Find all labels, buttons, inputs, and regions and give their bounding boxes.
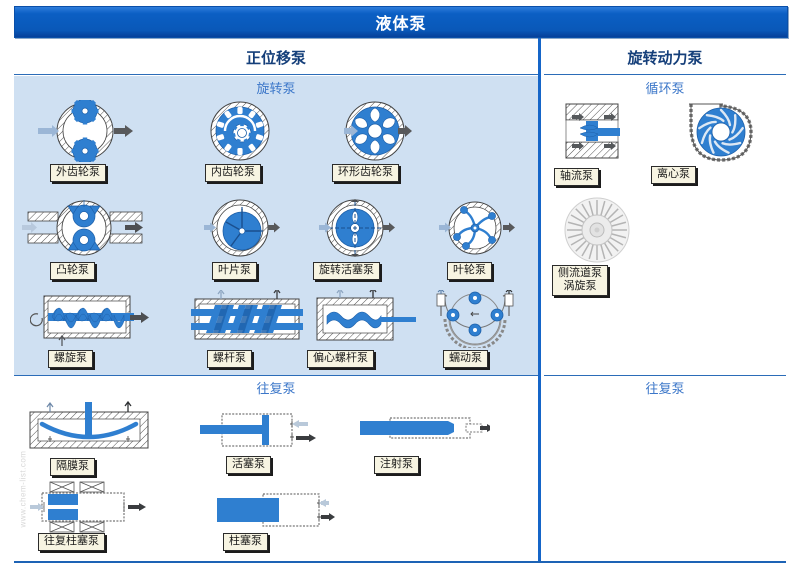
column-header-rotodynamic: 旋转动力泵 bbox=[544, 42, 786, 72]
section-header-circulation: 循环泵 bbox=[544, 78, 786, 96]
pump-cell-rotary-piston-pump: 旋转活塞泵 bbox=[305, 198, 405, 278]
pump-cell-cam-pump: 凸轮泵 bbox=[22, 198, 147, 278]
syringe-pump-icon bbox=[360, 408, 490, 454]
column-header-right-label: 旋转动力泵 bbox=[627, 47, 702, 68]
pump-cell-axial-flow-pump: 轴流泵 bbox=[560, 100, 640, 180]
pump-label-reciprocating-plunger-pump: 往复柱塞泵 bbox=[38, 533, 105, 551]
pump-label-plunger-pump: 柱塞泵 bbox=[223, 533, 268, 551]
pump-cell-syringe-pump: 注射泵 bbox=[360, 408, 490, 468]
watermark: www.chem-list.com bbox=[19, 438, 28, 528]
external-gear-pump-icon bbox=[30, 100, 140, 162]
pump-cell-reciprocating-plunger-pump: 往复柱塞泵 bbox=[28, 478, 158, 548]
pump-cell-external-gear-pump: 外齿轮泵 bbox=[30, 100, 140, 180]
ring-gear-pump-icon bbox=[320, 100, 430, 162]
piston-pump-icon bbox=[200, 408, 320, 454]
diaphragm-pump-icon bbox=[20, 398, 155, 456]
pump-label-eccentric-screw-pump: 偏心螺杆泵 bbox=[307, 350, 374, 368]
pump-label-vane-pump: 叶片泵 bbox=[212, 262, 257, 280]
pump-label-centrifugal-pump: 离心泵 bbox=[651, 166, 696, 184]
diagram-root: 液体泵 正位移泵 旋转动力泵 旋转泵 往复泵 循环泵 往复泵 bbox=[0, 0, 800, 569]
main-title-bar: 液体泵 bbox=[14, 6, 788, 38]
screw-spiral-pump-icon bbox=[30, 290, 155, 348]
pump-label-screw-pump: 螺杆泵 bbox=[207, 350, 252, 368]
plunger-pump-icon bbox=[215, 488, 335, 536]
page-title: 液体泵 bbox=[375, 10, 426, 34]
rotary-piston-pump-icon bbox=[305, 198, 405, 258]
pump-cell-side-channel-vortex-pump: 侧流道泵 涡旋泵 bbox=[552, 195, 642, 295]
divider-recip-left bbox=[14, 375, 538, 376]
peristaltic-pump-icon bbox=[425, 290, 525, 348]
divider-below-colheaders bbox=[14, 74, 538, 75]
centrifugal-pump-icon bbox=[655, 98, 765, 166]
pump-label-external-gear-pump: 外齿轮泵 bbox=[50, 164, 106, 182]
pump-label-internal-gear-pump: 内齿轮泵 bbox=[205, 164, 261, 182]
eccentric-screw-pump-icon bbox=[305, 290, 420, 348]
pump-label-screw-spiral-pump: 螺旋泵 bbox=[48, 350, 93, 368]
vane-pump-icon bbox=[190, 198, 290, 258]
section-header-recip-left-label: 往复泵 bbox=[256, 378, 295, 397]
internal-gear-pump-icon bbox=[185, 100, 295, 162]
divider-recip-right bbox=[544, 375, 786, 376]
pump-cell-impeller-pump: 叶轮泵 bbox=[425, 198, 525, 278]
impeller-pump-icon bbox=[425, 198, 525, 258]
column-header-positive-displacement: 正位移泵 bbox=[14, 42, 538, 72]
section-header-reciprocating-right: 往复泵 bbox=[544, 378, 786, 396]
pump-label-syringe-pump: 注射泵 bbox=[374, 456, 419, 474]
pump-cell-ring-gear-pump: 环形齿轮泵 bbox=[320, 100, 430, 180]
pump-cell-diaphragm-pump: 隔膜泵 bbox=[20, 398, 155, 468]
pump-cell-eccentric-screw-pump: 偏心螺杆泵 bbox=[305, 290, 420, 370]
divider-below-colheaders-right bbox=[544, 74, 786, 75]
pump-cell-vane-pump: 叶片泵 bbox=[190, 198, 290, 278]
column-divider bbox=[538, 38, 541, 563]
section-header-rotary-label: 旋转泵 bbox=[256, 78, 295, 97]
pump-label-ring-gear-pump: 环形齿轮泵 bbox=[332, 164, 399, 182]
section-header-circulation-label: 循环泵 bbox=[645, 78, 684, 97]
pump-cell-centrifugal-pump: 离心泵 bbox=[655, 98, 765, 180]
pump-label-axial-flow-pump: 轴流泵 bbox=[554, 168, 599, 186]
pump-label-rotary-piston-pump: 旋转活塞泵 bbox=[313, 262, 380, 280]
section-header-rotary: 旋转泵 bbox=[14, 78, 538, 96]
pump-label-piston-pump: 活塞泵 bbox=[226, 456, 271, 474]
pump-cell-screw-spiral-pump: 螺旋泵 bbox=[30, 290, 155, 370]
pump-cell-peristaltic-pump: 蠕动泵 bbox=[425, 290, 525, 370]
pump-label-cam-pump: 凸轮泵 bbox=[50, 262, 95, 280]
bottom-border bbox=[14, 561, 786, 563]
axial-flow-pump-icon bbox=[560, 100, 640, 162]
side-channel-vortex-pump-icon bbox=[552, 195, 642, 265]
pump-cell-plunger-pump: 柱塞泵 bbox=[215, 488, 335, 548]
reciprocating-plunger-pump-icon bbox=[28, 478, 158, 538]
pump-cell-internal-gear-pump: 内齿轮泵 bbox=[185, 100, 295, 180]
pump-label-peristaltic-pump: 蠕动泵 bbox=[443, 350, 488, 368]
column-header-left-label: 正位移泵 bbox=[246, 47, 306, 68]
screw-pump-icon bbox=[185, 290, 310, 348]
cam-pump-icon bbox=[22, 198, 147, 258]
pump-label-impeller-pump: 叶轮泵 bbox=[447, 262, 492, 280]
pump-cell-piston-pump: 活塞泵 bbox=[200, 408, 320, 468]
pump-label-side-channel-vortex-pump: 侧流道泵 涡旋泵 bbox=[552, 265, 608, 296]
pump-label-diaphragm-pump: 隔膜泵 bbox=[50, 458, 95, 476]
section-header-reciprocating-left: 往复泵 bbox=[14, 378, 538, 396]
section-header-recip-right-label: 往复泵 bbox=[645, 378, 684, 397]
pump-cell-screw-pump: 螺杆泵 bbox=[185, 290, 310, 370]
